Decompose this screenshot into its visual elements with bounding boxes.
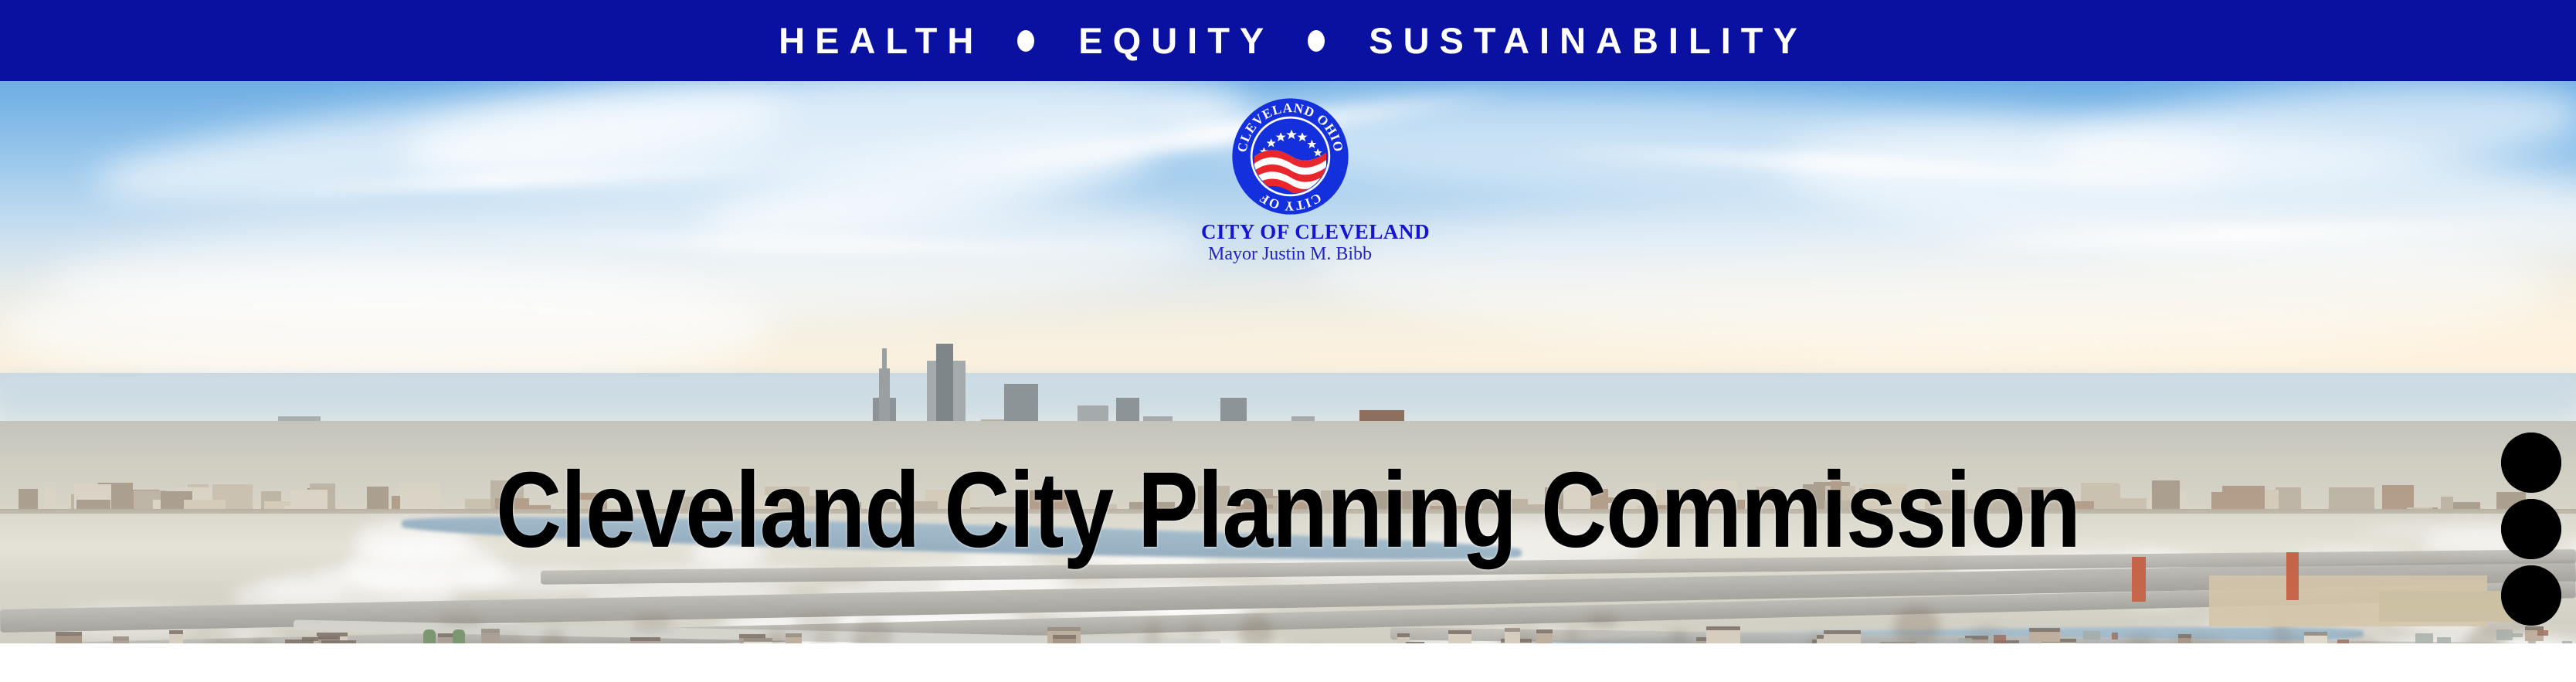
scrap-lot [1994, 635, 2006, 643]
tagline-word-sustainability: SUSTAINABILITY [1359, 22, 1807, 59]
tree-mass [632, 615, 673, 632]
scrap-lot [2537, 630, 2548, 636]
tree-mass [1187, 620, 1203, 640]
tagline-word-health: HEALTH [769, 22, 983, 59]
house-roof [318, 636, 340, 640]
tagline-inner: HEALTH EQUITY SUSTAINABILITY [769, 22, 1807, 59]
house-roof [1047, 627, 1081, 631]
house [2178, 637, 2191, 643]
social-media-rail [2501, 433, 2566, 626]
tagline-separator-dot-1 [1017, 30, 1034, 52]
house-roof [2029, 628, 2060, 632]
house [481, 632, 500, 643]
house [1448, 633, 1471, 643]
church-spire [453, 629, 465, 643]
logo-mayor-label: Mayor Justin M. Bibb [1201, 245, 1379, 264]
scrap-lot [2496, 629, 2513, 640]
house-roof [2304, 632, 2327, 636]
house-roof [56, 632, 82, 636]
house [1505, 631, 1520, 643]
house-roof [1505, 628, 1520, 632]
scrap-lot [2112, 633, 2118, 640]
house-roof [1824, 630, 1861, 634]
tagline-banner: HEALTH EQUITY SUSTAINABILITY [0, 0, 2576, 81]
house-roof [744, 638, 772, 642]
scrap-lot [2512, 633, 2523, 637]
house [2029, 631, 2060, 642]
house [786, 636, 802, 643]
youtube-icon[interactable] [2501, 433, 2561, 493]
house-roof [1053, 635, 1076, 639]
house-roof [1397, 633, 1410, 637]
house [1053, 638, 1076, 643]
page-root: HEALTH EQUITY SUSTAINABILITY [0, 0, 2576, 682]
tree-mass [438, 612, 484, 628]
house-roof [481, 629, 500, 633]
tagline-word-equity: EQUITY [1068, 22, 1274, 59]
house [1824, 633, 1861, 643]
house [56, 635, 82, 643]
tree-mass [1563, 625, 1583, 643]
tree-mass [1585, 614, 1619, 628]
logo-city-label: CITY OF CLEVELAND [1201, 221, 1379, 243]
tree-mass [1893, 606, 1940, 643]
house [1536, 633, 1553, 643]
house-roof [113, 636, 129, 640]
house [1706, 629, 1740, 643]
house-roof [786, 633, 802, 637]
house-roof [1706, 626, 1740, 630]
facebook-icon[interactable] [2501, 565, 2561, 626]
house-roof [1536, 629, 1553, 633]
house [2304, 635, 2327, 643]
scrap-lot [2437, 637, 2451, 643]
page-title: Cleveland City Planning Commission [0, 456, 2576, 564]
tree-mass [1668, 631, 1689, 643]
house-roof [169, 630, 183, 634]
house-roof [1448, 630, 1471, 634]
house-roof [2178, 634, 2191, 638]
instagram-icon[interactable] [2501, 499, 2561, 559]
bottom-white-strip [0, 643, 2576, 682]
house [169, 633, 183, 643]
tree-mass [793, 613, 843, 629]
city-logo-block[interactable]: CLEVELAND OHIO CITY OF [1201, 97, 1379, 265]
scrap-lot [1958, 638, 1972, 643]
scrap-lot [2415, 633, 2433, 643]
church-spire [423, 629, 436, 643]
city-of-cleveland-seal-icon: CLEVELAND OHIO CITY OF [1230, 97, 1350, 216]
tagline-separator-dot-2 [1308, 30, 1325, 52]
house-roof [630, 637, 660, 641]
scrap-lot [2083, 631, 2100, 640]
